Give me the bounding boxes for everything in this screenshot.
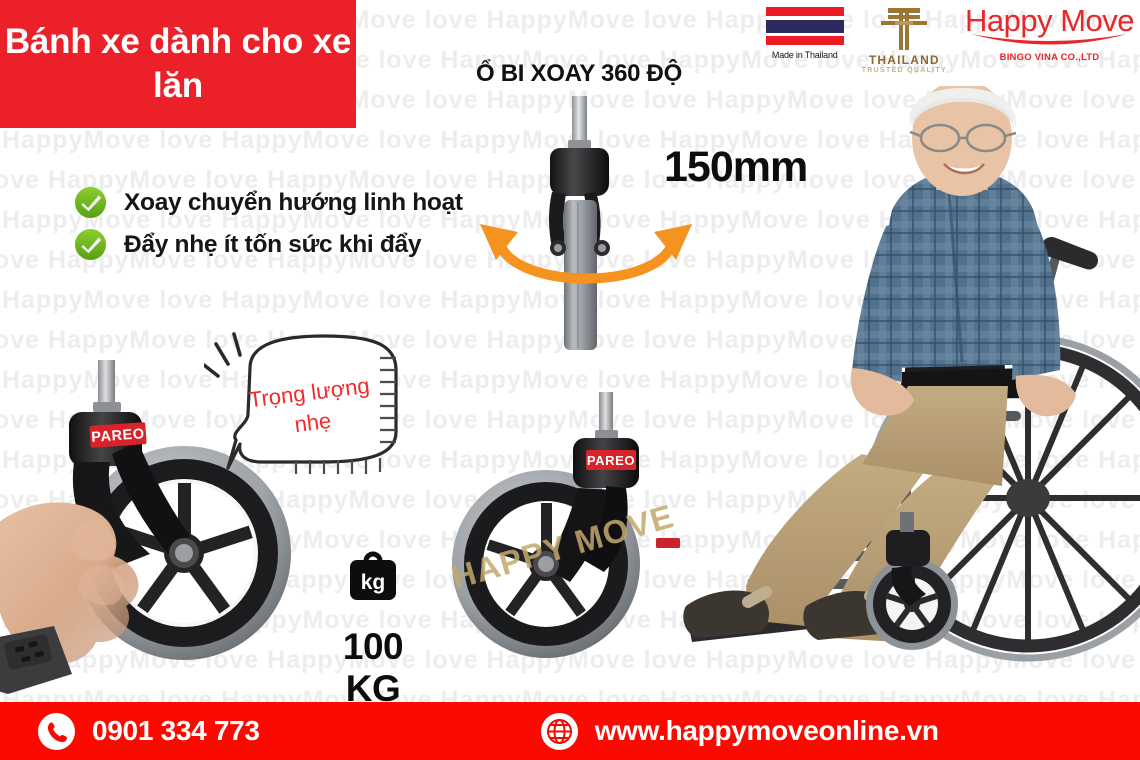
phone-number: 0901 334 773: [92, 715, 260, 747]
made-in-thailand-label: Made in Thailand: [772, 50, 838, 60]
rotation-double-arrow-icon: [470, 212, 702, 304]
weight-bag-icon: kg: [344, 548, 402, 606]
made-in-thailand-logo: Made in Thailand: [766, 4, 844, 60]
globe-icon: [541, 713, 578, 750]
kg-icon-text: kg: [361, 571, 386, 594]
happy-move-logo: Happy Move BINGO VINA CO.,LTD: [965, 4, 1134, 63]
weight-badge: kg 100 KG: [318, 548, 428, 710]
svg-text:PAREO: PAREO: [587, 453, 635, 468]
page-title: Bánh xe dành cho xe lăn: [0, 20, 356, 108]
happy-move-company: BINGO VINA CO.,LTD: [1000, 52, 1100, 63]
feature-label: Đẩy nhẹ ít tốn sức khi đẩy: [124, 231, 421, 259]
phone-contact[interactable]: 0901 334 773: [38, 713, 260, 750]
thailand-quality-name: THAILAND: [869, 53, 940, 67]
thailand-quality-subtitle: TRUSTED QUALITY: [862, 67, 947, 74]
feature-list: Xoay chuyển hướng linh hoạt Đẩy nhẹ ít t…: [74, 186, 463, 261]
thai-flag-icon: [766, 4, 844, 48]
thailand-trusted-quality-mark-icon: [876, 6, 932, 52]
feature-item: Xoay chuyển hướng linh hoạt: [74, 186, 463, 219]
happy-move-swoosh-icon: [969, 33, 1129, 49]
website-url: www.happymoveonline.vn: [595, 715, 939, 747]
header-banner: Bánh xe dành cho xe lăn: [0, 0, 356, 128]
green-check-icon: [74, 228, 107, 261]
flag-stripe-blue: [766, 20, 844, 33]
green-check-icon: [74, 186, 107, 219]
flag-stripe-red-top: [766, 7, 844, 16]
phone-icon: [38, 713, 75, 750]
size-label: 150mm: [664, 143, 807, 192]
flag-stripe-red-bottom: [766, 36, 844, 45]
swivel-heading: Ổ BI XOAY 360 ĐỘ: [476, 60, 682, 88]
logo-strip: Made in Thailand THAILAND TRUSTED QUALIT…: [766, 4, 1134, 84]
feature-item: Đẩy nhẹ ít tốn sức khi đẩy: [74, 228, 463, 261]
happy-move-name: Happy Move: [965, 6, 1134, 35]
footer-bar: 0901 334 773 www.happymoveonline.vn: [0, 702, 1140, 760]
website-contact[interactable]: www.happymoveonline.vn: [541, 713, 939, 750]
feature-label: Xoay chuyển hướng linh hoạt: [124, 189, 463, 217]
weight-value: 100 KG: [318, 626, 428, 710]
thailand-trusted-quality-logo: THAILAND TRUSTED QUALITY: [862, 4, 947, 74]
